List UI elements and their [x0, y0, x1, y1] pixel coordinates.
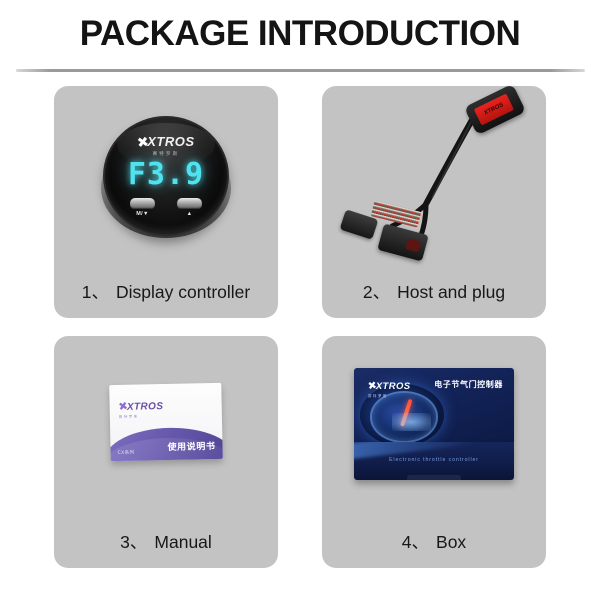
- panel-3-number: 3、: [120, 532, 147, 552]
- controller-logo-text: XTROS: [147, 135, 194, 148]
- panel-3-stage: ✖XTROS 赛特罗斯 CX系列 使用说明书: [54, 336, 278, 518]
- controller-brand-logo: ✖XTROS 赛特罗斯: [105, 134, 227, 157]
- controller-face: ✖XTROS 赛特罗斯 F3.9 M/▼: [105, 118, 227, 234]
- panel-2-stage: XTROS: [322, 86, 546, 268]
- panel-3-label: Manual: [154, 532, 211, 552]
- controller-readout: F3.9: [105, 157, 227, 192]
- panel-2-label: Host and plug: [397, 282, 505, 302]
- brand-star-icon: ✖: [137, 134, 151, 149]
- controller-button-right-cap[interactable]: [177, 198, 202, 209]
- panel-1-stage: ✖XTROS 赛特罗斯 F3.9 M/▼: [54, 86, 278, 268]
- panel-1-number: 1、: [82, 282, 109, 302]
- panel-2-caption: 2、Host and plug: [322, 279, 546, 304]
- manual-cn-title: 使用说明书: [167, 439, 215, 453]
- box-flap: [407, 475, 461, 480]
- panel-2-number: 2、: [363, 282, 390, 302]
- panel-4-number: 4、: [402, 532, 429, 552]
- controller-button-right[interactable]: ▲: [176, 198, 204, 217]
- display-controller-image: ✖XTROS 赛特罗斯 F3.9 M/▼: [97, 108, 235, 244]
- controller-button-left-cap[interactable]: [130, 198, 155, 209]
- box-front-face: CX系列 Electronic throttle controller: [354, 442, 514, 480]
- controller-body: ✖XTROS 赛特罗斯 F3.9 M/▼: [103, 116, 229, 236]
- box-brand-logo: ✖XTROS 赛特罗斯: [368, 377, 411, 398]
- package-introduction-page: PACKAGE INTRODUCTION ✖XTROS 赛特罗斯: [0, 0, 600, 600]
- brand-star-icon: ✖: [118, 401, 129, 413]
- manual-booklet-image: ✖XTROS 赛特罗斯 CX系列 使用说明书: [109, 383, 223, 461]
- manual-logo-text: XTROS: [127, 401, 164, 413]
- panel-4-label: Box: [436, 532, 466, 552]
- manual-series-text: CX系列: [118, 450, 135, 456]
- box-top-face: ✖XTROS 赛特罗斯 电子节气门控制器: [354, 368, 514, 442]
- controller-button-right-label: ▲: [176, 211, 204, 217]
- controller-button-left-label: M/▼: [129, 211, 157, 217]
- page-header: PACKAGE INTRODUCTION: [0, 0, 600, 74]
- title-divider: [16, 69, 585, 72]
- controller-buttons: M/▼ ▲: [105, 198, 227, 217]
- page-title: PACKAGE INTRODUCTION: [0, 14, 600, 54]
- controller-logo-subtext: 赛特罗斯: [105, 152, 227, 157]
- box-gauge-glow: [392, 413, 431, 432]
- panel-host-and-plug[interactable]: XTROS 2、Host and plug: [322, 86, 546, 318]
- panel-1-label: Display controller: [116, 282, 250, 302]
- panel-display-controller[interactable]: ✖XTROS 赛特罗斯 F3.9 M/▼: [54, 86, 278, 318]
- panel-4-stage: ✖XTROS 赛特罗斯 电子节气门控制器 CX系列 Electronic thr…: [322, 336, 546, 518]
- panel-manual[interactable]: ✖XTROS 赛特罗斯 CX系列 使用说明书 3、Manual: [54, 336, 278, 568]
- panel-box[interactable]: ✖XTROS 赛特罗斯 电子节气门控制器 CX系列 Electronic thr…: [322, 336, 546, 568]
- panel-1-caption: 1、Display controller: [54, 279, 278, 304]
- retail-box-image: ✖XTROS 赛特罗斯 电子节气门控制器 CX系列 Electronic thr…: [354, 368, 514, 480]
- box-cn-title: 电子节气门控制器: [434, 379, 503, 390]
- box-logo-subtext: 赛特罗斯: [368, 395, 411, 398]
- host-brand-mark: XTROS: [483, 102, 504, 116]
- plug-slot: [405, 238, 420, 252]
- brand-star-icon: ✖: [367, 380, 377, 392]
- box-logo-text: XTROS: [376, 381, 411, 392]
- manual-brand-logo: ✖XTROS 赛特罗斯: [118, 397, 163, 419]
- host-and-plug-image: XTROS: [322, 86, 546, 268]
- panel-grid: ✖XTROS 赛特罗斯 F3.9 M/▼: [0, 86, 600, 586]
- box-en-title: Electronic throttle controller: [354, 457, 514, 463]
- manual-logo-subtext: 赛特罗斯: [119, 415, 164, 419]
- panel-4-caption: 4、Box: [322, 529, 546, 554]
- controller-button-left[interactable]: M/▼: [129, 198, 157, 217]
- panel-3-caption: 3、Manual: [54, 529, 278, 554]
